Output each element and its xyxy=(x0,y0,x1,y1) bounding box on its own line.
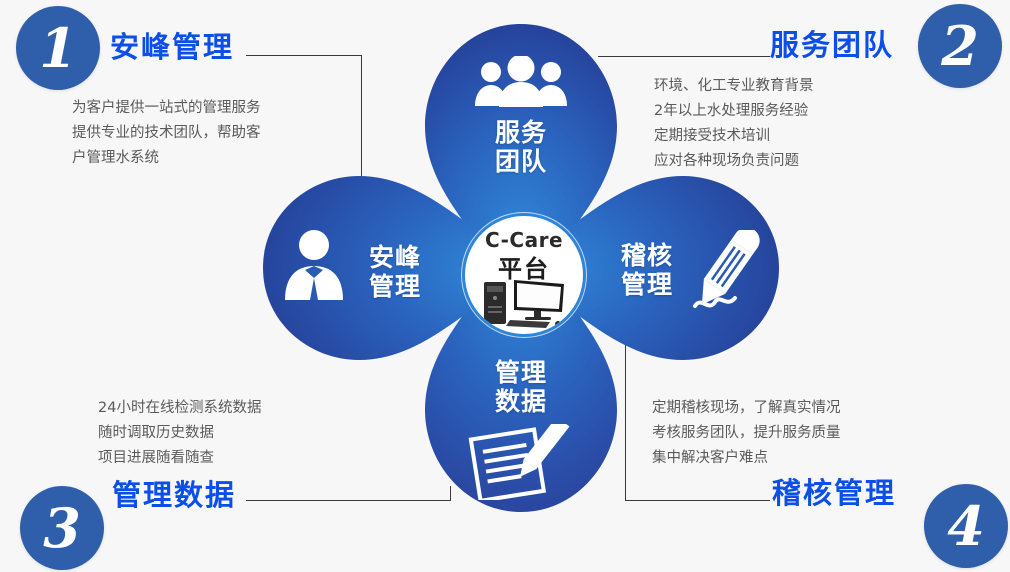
body-line: 为客户提供一站式的管理服务 xyxy=(72,96,261,121)
number-badge-2: 2 xyxy=(918,4,1002,88)
section-heading-3: 管理数据 xyxy=(112,472,236,514)
petal-label-right: 稽核 管理 xyxy=(599,241,695,299)
business-person-icon xyxy=(283,226,345,306)
pencil-icon xyxy=(687,230,765,326)
body-line: 户管理水系统 xyxy=(72,146,261,171)
petal-label-left: 安峰 管理 xyxy=(347,243,443,301)
section-body-3: 24小时在线检测系统数据 随时调取历史数据 项目进展随看随查 xyxy=(98,396,261,471)
body-line: 随时调取历史数据 xyxy=(98,421,261,446)
body-line: 24小时在线检测系统数据 xyxy=(98,396,261,421)
section-heading-1: 安峰管理 xyxy=(110,24,234,66)
body-line: 提供专业的技术团队，帮助客 xyxy=(72,121,261,146)
petal-label-line1: 服务 xyxy=(473,118,569,147)
body-line: 项目进展随看随查 xyxy=(98,446,261,471)
desktop-computer-icon xyxy=(482,278,566,332)
petal-diagram: 服务 团队 管理 数据 xyxy=(255,18,785,518)
petal-label-line1: 安峰 xyxy=(347,243,443,272)
number-badge-3: 3 xyxy=(20,486,104,570)
petal-label-line1: 稽核 xyxy=(599,241,695,270)
infographic-canvas: 1 2 3 4 安峰管理 服务团队 管理数据 稽核管理 为客户提供一站式的管理服… xyxy=(0,0,1010,572)
petal-label-line1: 管理 xyxy=(473,358,569,387)
section-heading-2: 服务团队 xyxy=(770,22,894,64)
petal-label-line2: 数据 xyxy=(473,387,569,416)
petal-label-top: 服务 团队 xyxy=(473,118,569,176)
petal-label-line2: 管理 xyxy=(599,270,695,299)
people-group-icon xyxy=(471,56,571,112)
petal-label-bottom: 管理 数据 xyxy=(473,358,569,416)
center-hub: C-Care 平台 xyxy=(462,213,586,337)
petal-label-line2: 管理 xyxy=(347,272,443,301)
number-badge-1: 1 xyxy=(16,6,100,90)
petal-label-line2: 团队 xyxy=(473,147,569,176)
section-body-1: 为客户提供一站式的管理服务 提供专业的技术团队，帮助客 户管理水系统 xyxy=(72,96,261,171)
clipboard-pencil-icon xyxy=(467,424,575,504)
section-heading-4: 稽核管理 xyxy=(772,470,896,512)
number-badge-4: 4 xyxy=(924,484,1008,568)
